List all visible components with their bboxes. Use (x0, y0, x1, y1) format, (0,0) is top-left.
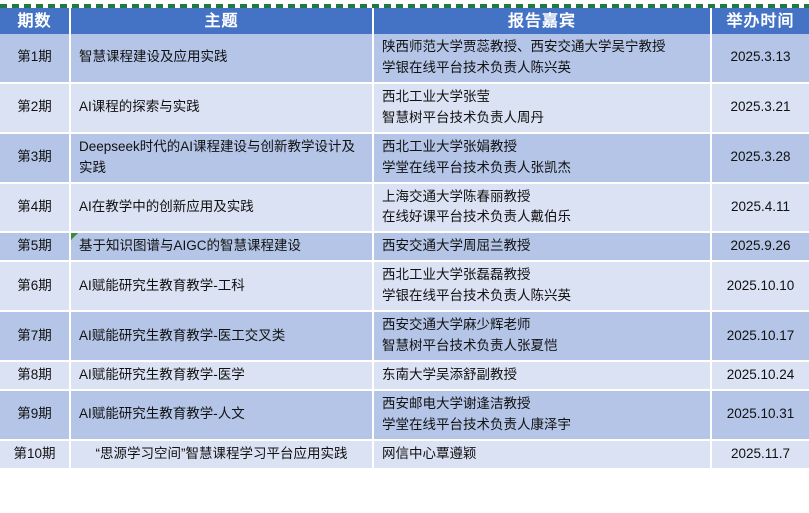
cell-topic-text: 基于知识图谱与AIGC的智慧课程建设 (79, 238, 301, 253)
guest-line: 西安交通大学周屈兰教授 (382, 236, 702, 257)
guest-line: 学堂在线平台技术负责人张凯杰 (382, 158, 702, 179)
cell-date[interactable]: 2025.10.24 (711, 361, 809, 390)
cell-guest[interactable]: 西安邮电大学谢逢洁教授学堂在线平台技术负责人康泽宇 (373, 390, 711, 440)
cell-issue[interactable]: 第9期 (0, 390, 70, 440)
cell-topic-text: Deepseek时代的AI课程建设与创新教学设计及实践 (79, 139, 355, 175)
cell-topic[interactable]: AI赋能研究生教育教学-人文 (70, 390, 373, 440)
cell-topic[interactable]: 基于知识图谱与AIGC的智慧课程建设 (70, 232, 373, 261)
cell-issue[interactable]: 第6期 (0, 261, 70, 311)
table-row[interactable]: 第3期Deepseek时代的AI课程建设与创新教学设计及实践西北工业大学张娟教授… (0, 133, 809, 183)
cell-topic[interactable]: “思源学习空间”智慧课程学习平台应用实践 (70, 440, 373, 469)
guest-line: 学堂在线平台技术负责人康泽宇 (382, 415, 702, 436)
cell-date[interactable]: 2025.10.31 (711, 390, 809, 440)
cell-topic-text: 智慧课程建设及应用实践 (79, 49, 228, 64)
cell-issue[interactable]: 第3期 (0, 133, 70, 183)
table-row[interactable]: 第8期AI赋能研究生教育教学-医学东南大学吴添舒副教授2025.10.24 (0, 361, 809, 390)
cell-topic[interactable]: AI赋能研究生教育教学-工科 (70, 261, 373, 311)
cell-topic-text: AI赋能研究生教育教学-工科 (79, 278, 245, 293)
guest-line: 西北工业大学张娟教授 (382, 137, 702, 158)
cell-topic-text: AI赋能研究生教育教学-人文 (79, 406, 245, 421)
guest-line: 智慧树平台技术负责人张夏恺 (382, 336, 702, 357)
guest-line: 陕西师范大学贾蕊教授、西安交通大学吴宁教授 (382, 37, 702, 58)
guest-line: 学银在线平台技术负责人陈兴英 (382, 286, 702, 307)
cell-topic-text: “思源学习空间”智慧课程学习平台应用实践 (96, 446, 348, 461)
schedule-table-container: 期数 主题 报告嘉宾 举办时间 第1期智慧课程建设及应用实践陕西师范大学贾蕊教授… (0, 4, 809, 513)
cell-guest[interactable]: 西安交通大学麻少辉老师智慧树平台技术负责人张夏恺 (373, 311, 711, 361)
guest-line: 智慧树平台技术负责人周丹 (382, 108, 702, 129)
cell-date[interactable]: 2025.4.11 (711, 183, 809, 233)
guest-line: 西安交通大学麻少辉老师 (382, 315, 702, 336)
column-header-guest[interactable]: 报告嘉宾 (373, 4, 711, 34)
cell-date[interactable]: 2025.9.26 (711, 232, 809, 261)
cell-date[interactable]: 2025.3.13 (711, 34, 809, 83)
cell-issue[interactable]: 第5期 (0, 232, 70, 261)
cell-issue[interactable]: 第7期 (0, 311, 70, 361)
guest-line: 西安邮电大学谢逢洁教授 (382, 394, 702, 415)
cell-topic[interactable]: Deepseek时代的AI课程建设与创新教学设计及实践 (70, 133, 373, 183)
cell-date[interactable]: 2025.10.17 (711, 311, 809, 361)
table-row[interactable]: 第1期智慧课程建设及应用实践陕西师范大学贾蕊教授、西安交通大学吴宁教授学银在线平… (0, 34, 809, 83)
cell-issue[interactable]: 第8期 (0, 361, 70, 390)
guest-line: 东南大学吴添舒副教授 (382, 365, 702, 386)
cell-topic[interactable]: AI赋能研究生教育教学-医学 (70, 361, 373, 390)
cell-guest[interactable]: 西北工业大学张娟教授学堂在线平台技术负责人张凯杰 (373, 133, 711, 183)
guest-line: 学银在线平台技术负责人陈兴英 (382, 58, 702, 79)
table-row[interactable]: 第4期AI在教学中的创新应用及实践上海交通大学陈春丽教授在线好课平台技术负责人戴… (0, 183, 809, 233)
cell-guest[interactable]: 西北工业大学张莹智慧树平台技术负责人周丹 (373, 83, 711, 133)
schedule-table: 期数 主题 报告嘉宾 举办时间 第1期智慧课程建设及应用实践陕西师范大学贾蕊教授… (0, 4, 809, 470)
cell-topic[interactable]: AI课程的探索与实践 (70, 83, 373, 133)
cell-guest[interactable]: 网信中心覃遵颖 (373, 440, 711, 469)
cell-date[interactable]: 2025.3.21 (711, 83, 809, 133)
column-header-topic[interactable]: 主题 (70, 4, 373, 34)
table-row[interactable]: 第2期AI课程的探索与实践西北工业大学张莹智慧树平台技术负责人周丹2025.3.… (0, 83, 809, 133)
cell-issue[interactable]: 第4期 (0, 183, 70, 233)
cell-topic-text: AI赋能研究生教育教学-医工交叉类 (79, 328, 285, 343)
cell-issue[interactable]: 第1期 (0, 34, 70, 83)
cell-guest[interactable]: 西北工业大学张磊磊教授学银在线平台技术负责人陈兴英 (373, 261, 711, 311)
cell-issue[interactable]: 第10期 (0, 440, 70, 469)
cell-topic-text: AI在教学中的创新应用及实践 (79, 199, 254, 214)
column-header-date[interactable]: 举办时间 (711, 4, 809, 34)
column-header-issue[interactable]: 期数 (0, 4, 70, 34)
cell-topic[interactable]: AI赋能研究生教育教学-医工交叉类 (70, 311, 373, 361)
cell-topic[interactable]: AI在教学中的创新应用及实践 (70, 183, 373, 233)
table-row[interactable]: 第6期AI赋能研究生教育教学-工科西北工业大学张磊磊教授学银在线平台技术负责人陈… (0, 261, 809, 311)
cell-guest[interactable]: 陕西师范大学贾蕊教授、西安交通大学吴宁教授学银在线平台技术负责人陈兴英 (373, 34, 711, 83)
guest-line: 网信中心覃遵颖 (382, 444, 702, 465)
comment-marker-icon (71, 233, 78, 240)
guest-line: 在线好课平台技术负责人戴伯乐 (382, 207, 702, 228)
table-row[interactable]: 第10期“思源学习空间”智慧课程学习平台应用实践网信中心覃遵颖2025.11.7 (0, 440, 809, 469)
cell-guest[interactable]: 上海交通大学陈春丽教授在线好课平台技术负责人戴伯乐 (373, 183, 711, 233)
guest-line: 西北工业大学张莹 (382, 87, 702, 108)
guest-line: 上海交通大学陈春丽教授 (382, 187, 702, 208)
cell-date[interactable]: 2025.11.7 (711, 440, 809, 469)
guest-line: 西北工业大学张磊磊教授 (382, 265, 702, 286)
table-row[interactable]: 第9期AI赋能研究生教育教学-人文西安邮电大学谢逢洁教授学堂在线平台技术负责人康… (0, 390, 809, 440)
cell-date[interactable]: 2025.3.28 (711, 133, 809, 183)
table-row[interactable]: 第7期AI赋能研究生教育教学-医工交叉类西安交通大学麻少辉老师智慧树平台技术负责… (0, 311, 809, 361)
cell-topic[interactable]: 智慧课程建设及应用实践 (70, 34, 373, 83)
header-row: 期数 主题 报告嘉宾 举办时间 (0, 4, 809, 34)
cell-guest[interactable]: 西安交通大学周屈兰教授 (373, 232, 711, 261)
cell-issue[interactable]: 第2期 (0, 83, 70, 133)
table-body: 第1期智慧课程建设及应用实践陕西师范大学贾蕊教授、西安交通大学吴宁教授学银在线平… (0, 34, 809, 469)
cell-guest[interactable]: 东南大学吴添舒副教授 (373, 361, 711, 390)
cell-topic-text: AI赋能研究生教育教学-医学 (79, 367, 245, 382)
table-row[interactable]: 第5期基于知识图谱与AIGC的智慧课程建设西安交通大学周屈兰教授2025.9.2… (0, 232, 809, 261)
table-header: 期数 主题 报告嘉宾 举办时间 (0, 4, 809, 34)
cell-topic-text: AI课程的探索与实践 (79, 99, 200, 114)
cell-date[interactable]: 2025.10.10 (711, 261, 809, 311)
